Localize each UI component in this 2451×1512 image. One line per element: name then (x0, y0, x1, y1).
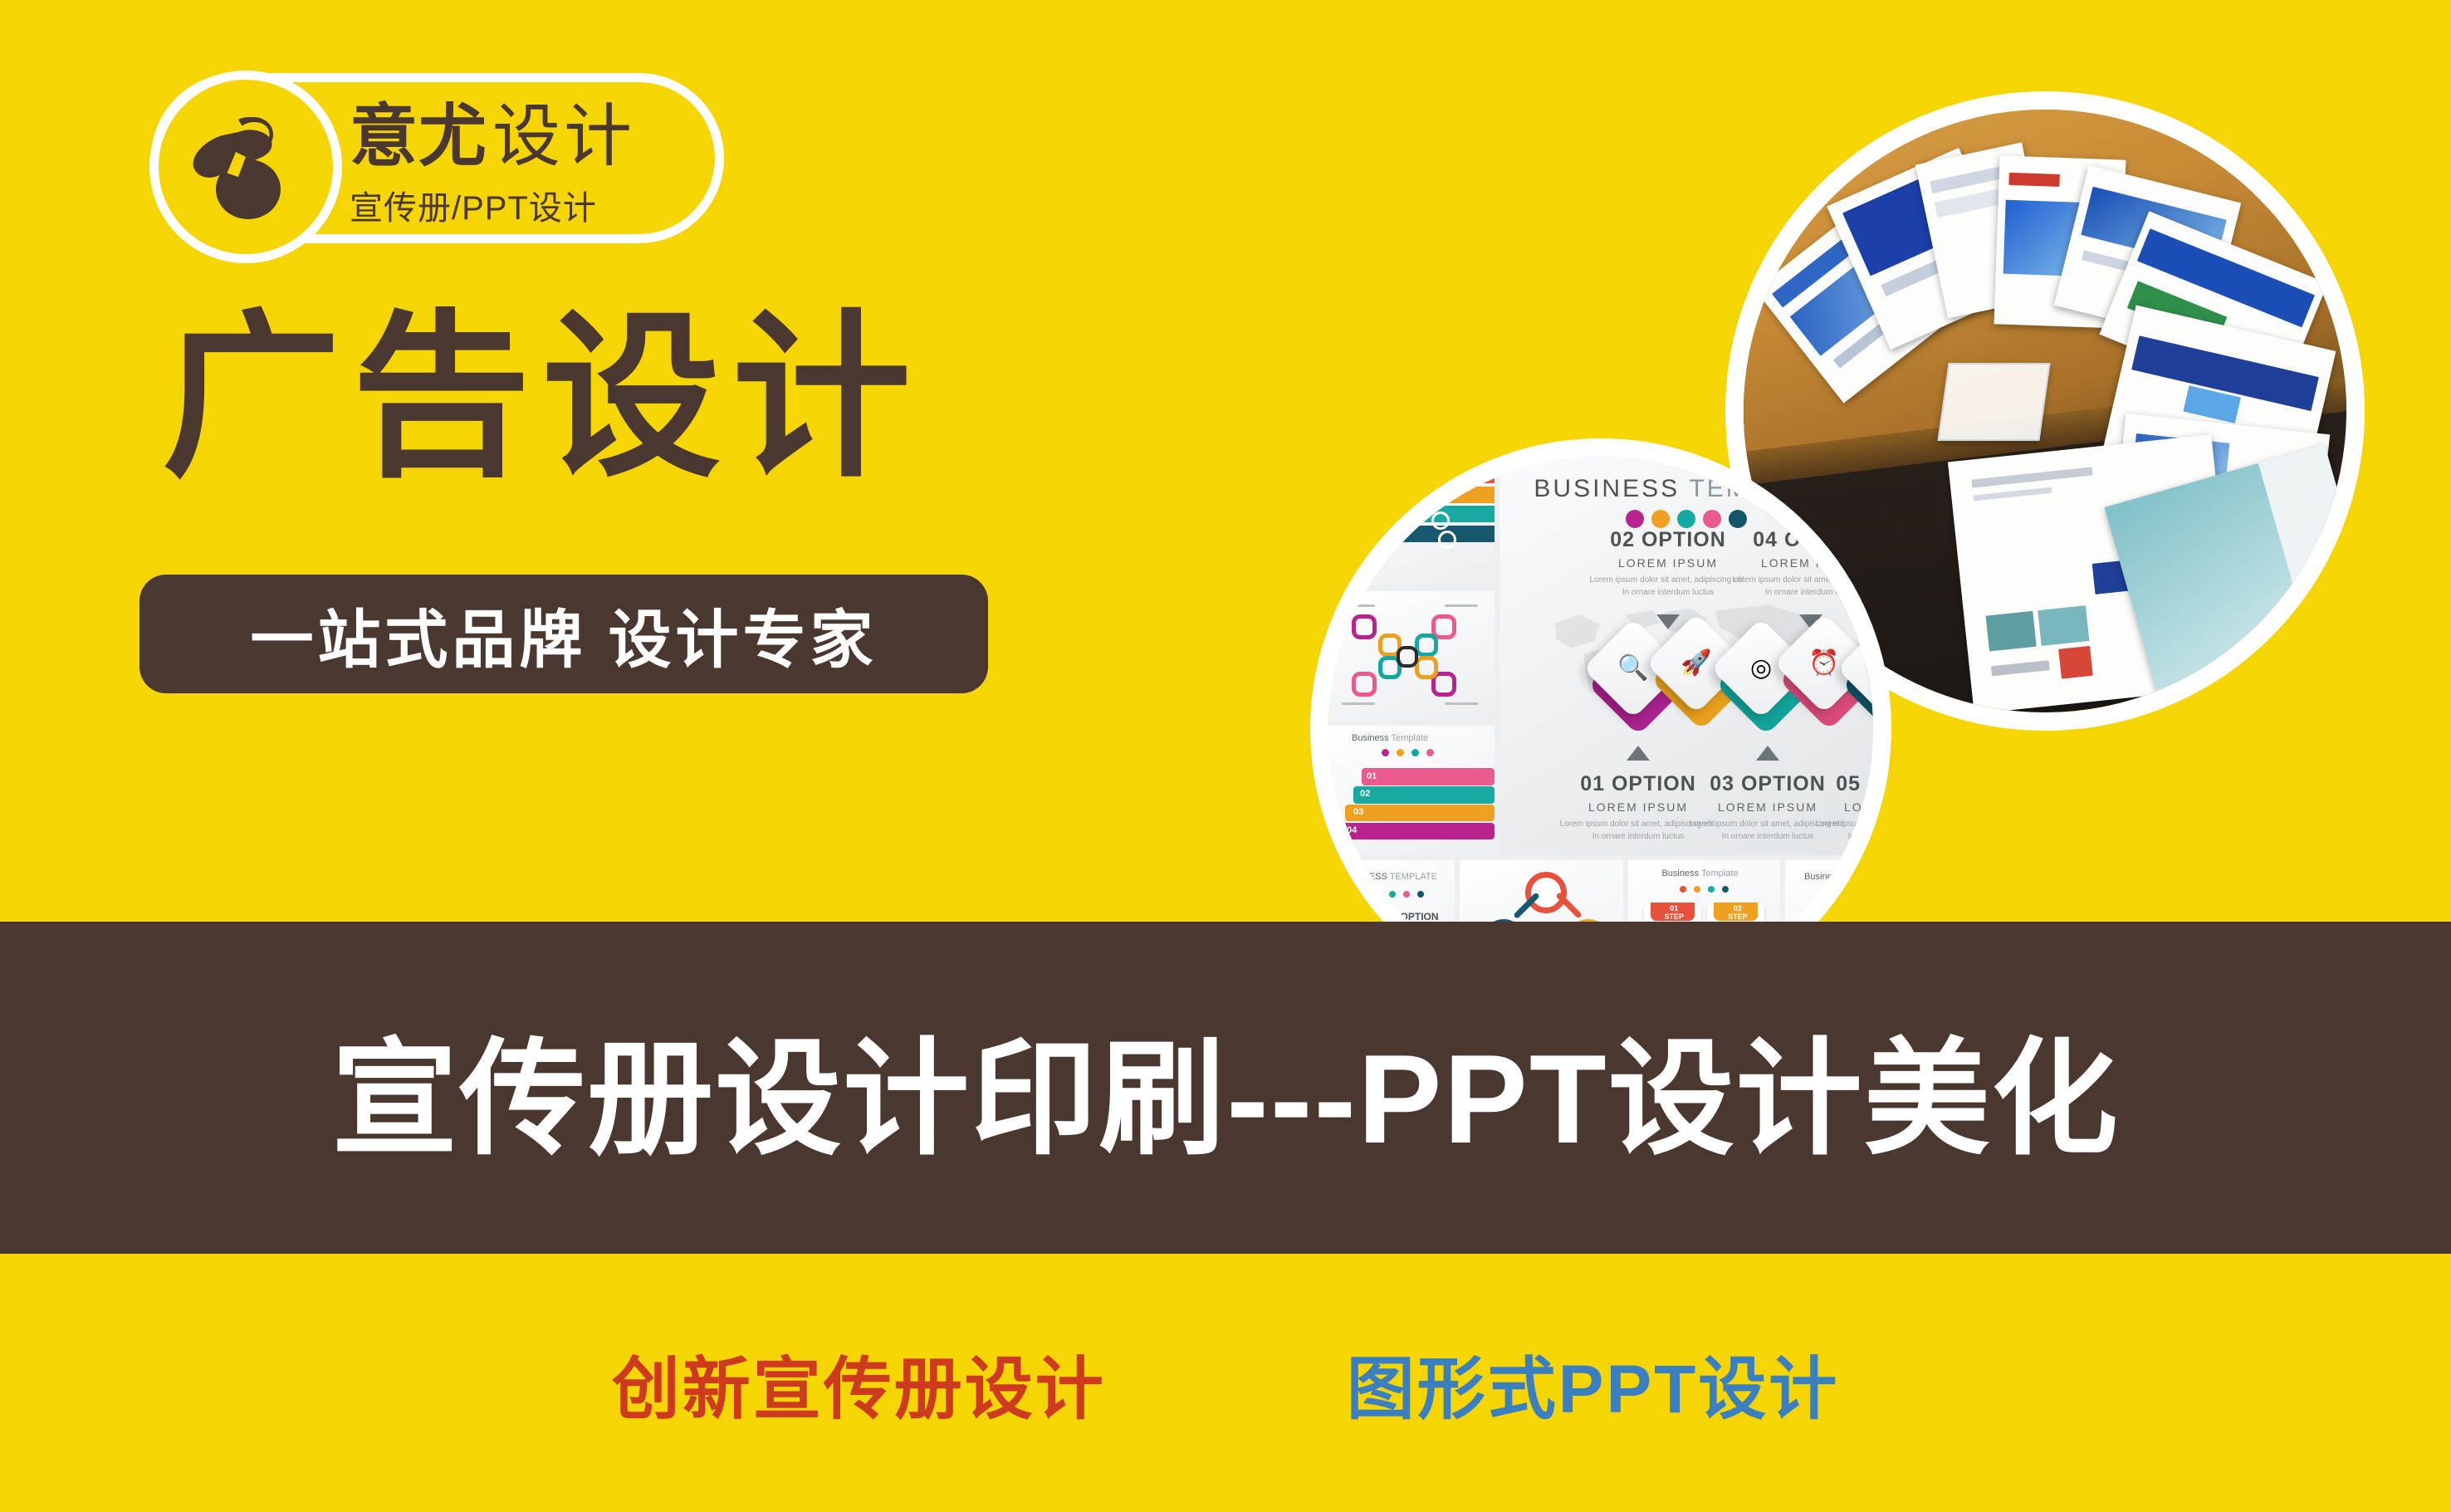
service-banner-text: 宣传册设计印刷---PPT设计美化 (331, 996, 2119, 1179)
brand-name-bold: 意尤 (350, 103, 487, 171)
map-thumb-title: BUSINESS TEMPLATE (1341, 872, 1437, 882)
brand-logo[interactable]: 意尤 设计 宣传册/PPT设计 (151, 73, 724, 243)
business06-thumb-title: Busines (1804, 872, 1837, 882)
brand-logo-text: 意尤 设计 宣传册/PPT设计 (350, 87, 723, 245)
ppt-slide-title: BUSINESS TEMPLATE (1534, 475, 1838, 503)
magnifier-icon: 🔍 (1617, 656, 1648, 681)
ppt-main-slide: BUSINESS TEMPLATE (1499, 457, 1873, 855)
ppt-sheet-grid: Business Template 01 02 03 04 (1328, 457, 1873, 1001)
pyramid-thumb-title: Business Template (1352, 733, 1428, 743)
gourd-bird-mark-icon (149, 71, 342, 263)
page-title: 广告设计 (162, 295, 922, 500)
ribbon-list-thumb (1328, 457, 1495, 586)
ppt-diamond-05: 📊 (1857, 649, 1873, 721)
ppt-left-thumb-column: Business Template 01 02 03 04 (1328, 457, 1495, 855)
subtitle-pill-label: 一站式品牌 设计专家 (250, 589, 877, 680)
rocket-icon: 🚀 (1680, 651, 1711, 676)
ppt-slide-dots (1626, 510, 1747, 528)
service-banner: 宣传册设计印刷---PPT设计美化 (0, 922, 2451, 1254)
brand-tagline: 宣传册/PPT设计 (350, 181, 723, 229)
poster-canvas: Business Template 01 02 03 04 (0, 0, 2451, 1512)
footer-tag-row: 创新宣传册设计 图形式PPT设计 (0, 1254, 2451, 1512)
ppt-option-02: 02 OPTION LOREM IPSUM Lorem ipsum dolor … (1589, 528, 1747, 599)
steps-thumb-title: Business Template (1661, 869, 1738, 878)
brand-name-thin: 设计 (492, 103, 635, 171)
cross-grid-thumb (1328, 591, 1495, 721)
pyramid-chart-thumb: Business Template 01 02 03 04 (1328, 726, 1495, 855)
presentation-icon: 📊 (1871, 656, 1873, 681)
target-icon: ◎ (1750, 656, 1772, 681)
ppt-option-05: 05 OPTION LOREM IPSUM Lorem ipsum dolor … (1815, 772, 1873, 843)
alarm-clock-icon: ⏰ (1808, 651, 1839, 676)
footer-tag-brochure[interactable]: 创新宣传册设计 (612, 1333, 1106, 1432)
ppt-option-04: 04 OPTION LOREM IPSUM Lorem ipsum dolor … (1732, 528, 1873, 599)
subtitle-pill: 一站式品牌 设计专家 (139, 575, 988, 693)
footer-tag-ppt[interactable]: 图形式PPT设计 (1347, 1333, 1839, 1432)
